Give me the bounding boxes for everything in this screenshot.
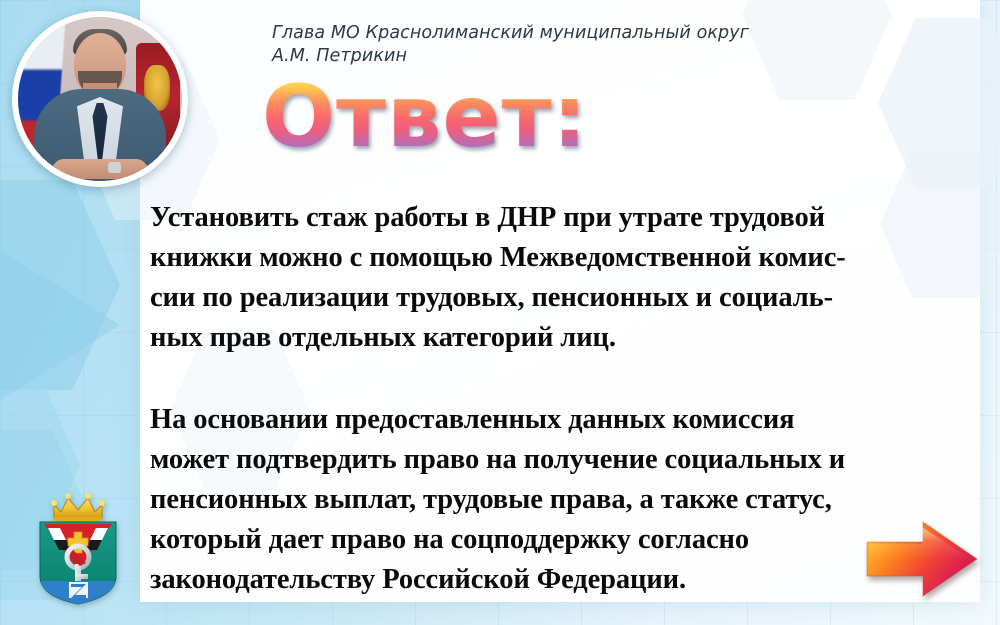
- slide-root: Глава МО Краснолиманский муниципальный о…: [0, 0, 1000, 625]
- coat-of-arms-icon: [30, 488, 126, 606]
- official-name-block: Глава МО Краснолиманский муниципальный о…: [272, 22, 832, 68]
- paragraph-2-line-4: который дает право на соцподдержку согла…: [150, 520, 972, 560]
- arrow-right-icon: [861, 516, 983, 602]
- paragraph-1-line-4: ных прав отдельных категорий лиц.: [150, 318, 972, 358]
- page-title: Ответ:: [262, 72, 588, 162]
- paragraph-1-line-1: Установить стаж работы в ДНР при утрате …: [150, 198, 972, 238]
- paragraph-2-line-2: может подтвердить право на получение соц…: [150, 440, 972, 480]
- paragraph-2-line-5: законодательству Российской Федерации.: [150, 560, 972, 600]
- paragraph-1-line-2: книжки можно с помощью Межведомственной …: [150, 238, 972, 278]
- paragraph-1-line-3: сии по реализации трудовых, пенсионных и…: [150, 278, 972, 318]
- official-title-line: Глава МО Краснолиманский муниципальный о…: [272, 22, 832, 45]
- avatar: [12, 11, 188, 187]
- paragraph-2-line-3: пенсионных выплат, трудовые права, а так…: [150, 480, 972, 520]
- paragraph-2-line-1: На основании предоставленных данных коми…: [150, 400, 972, 440]
- paragraph-spacer: [150, 358, 972, 400]
- avatar-photo: [18, 17, 182, 181]
- photo-hands: [52, 159, 148, 179]
- photo-wristwatch: [108, 162, 121, 173]
- answer-body: Установить стаж работы в ДНР при утрате …: [150, 198, 972, 600]
- official-name-line: А.М. Петрикин: [272, 45, 832, 68]
